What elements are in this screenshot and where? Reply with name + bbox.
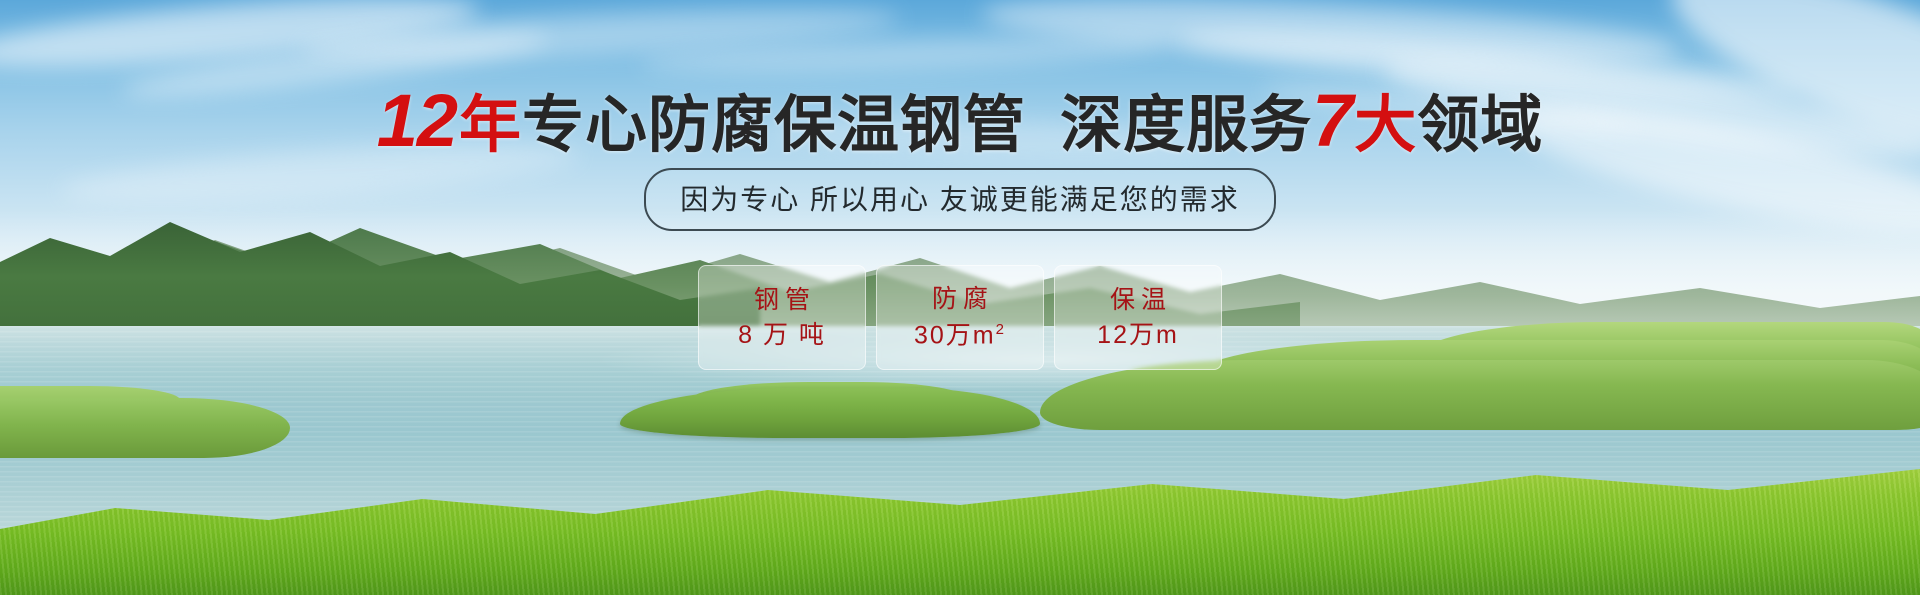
stat-card-insulation: 保温 12万m [1054, 265, 1222, 370]
stat-card-value-text: 30万m [914, 321, 996, 349]
stat-card-group: 钢管 8 万 吨 防腐 30万m2 保温 12万m [0, 265, 1920, 370]
stat-card-value: 12万m [1097, 323, 1179, 348]
stat-card-value: 30万m2 [914, 322, 1006, 348]
banner-content: 12年专心防腐保温钢管深度服务7大领域 因为专心 所以用心 友诚更能满足您的需求… [0, 0, 1920, 595]
headline-part-three: 领域 [1417, 91, 1543, 160]
headline-part-two: 深度服务 [1060, 91, 1312, 160]
stat-card-value-text: 8 万 吨 [738, 321, 826, 349]
stat-card-title: 防腐 [926, 287, 994, 312]
headline-fields-number: 7 [1312, 79, 1354, 162]
banner-subtitle-wrapper: 因为专心 所以用心 友诚更能满足您的需求 [0, 168, 1920, 231]
banner-headline: 12年专心防腐保温钢管深度服务7大领域 [0, 84, 1920, 158]
stat-card-title: 钢管 [748, 288, 816, 313]
headline-part-one: 专心防腐保温钢管 [522, 91, 1026, 160]
stat-card-value: 8 万 吨 [738, 323, 826, 348]
stat-card-steel-pipe: 钢管 8 万 吨 [698, 265, 866, 370]
banner-subtitle: 因为专心 所以用心 友诚更能满足您的需求 [644, 168, 1276, 231]
hero-banner: 12年专心防腐保温钢管深度服务7大领域 因为专心 所以用心 友诚更能满足您的需求… [0, 0, 1920, 595]
headline-years-number: 12 [377, 79, 459, 162]
stat-card-anticorrosion: 防腐 30万m2 [876, 265, 1044, 370]
stat-card-title: 保温 [1104, 288, 1172, 313]
stat-card-value-superscript: 2 [996, 321, 1006, 338]
headline-years-unit: 年 [459, 91, 522, 160]
stat-card-value-text: 12万m [1097, 321, 1179, 349]
headline-fields-unit: 大 [1354, 91, 1417, 160]
